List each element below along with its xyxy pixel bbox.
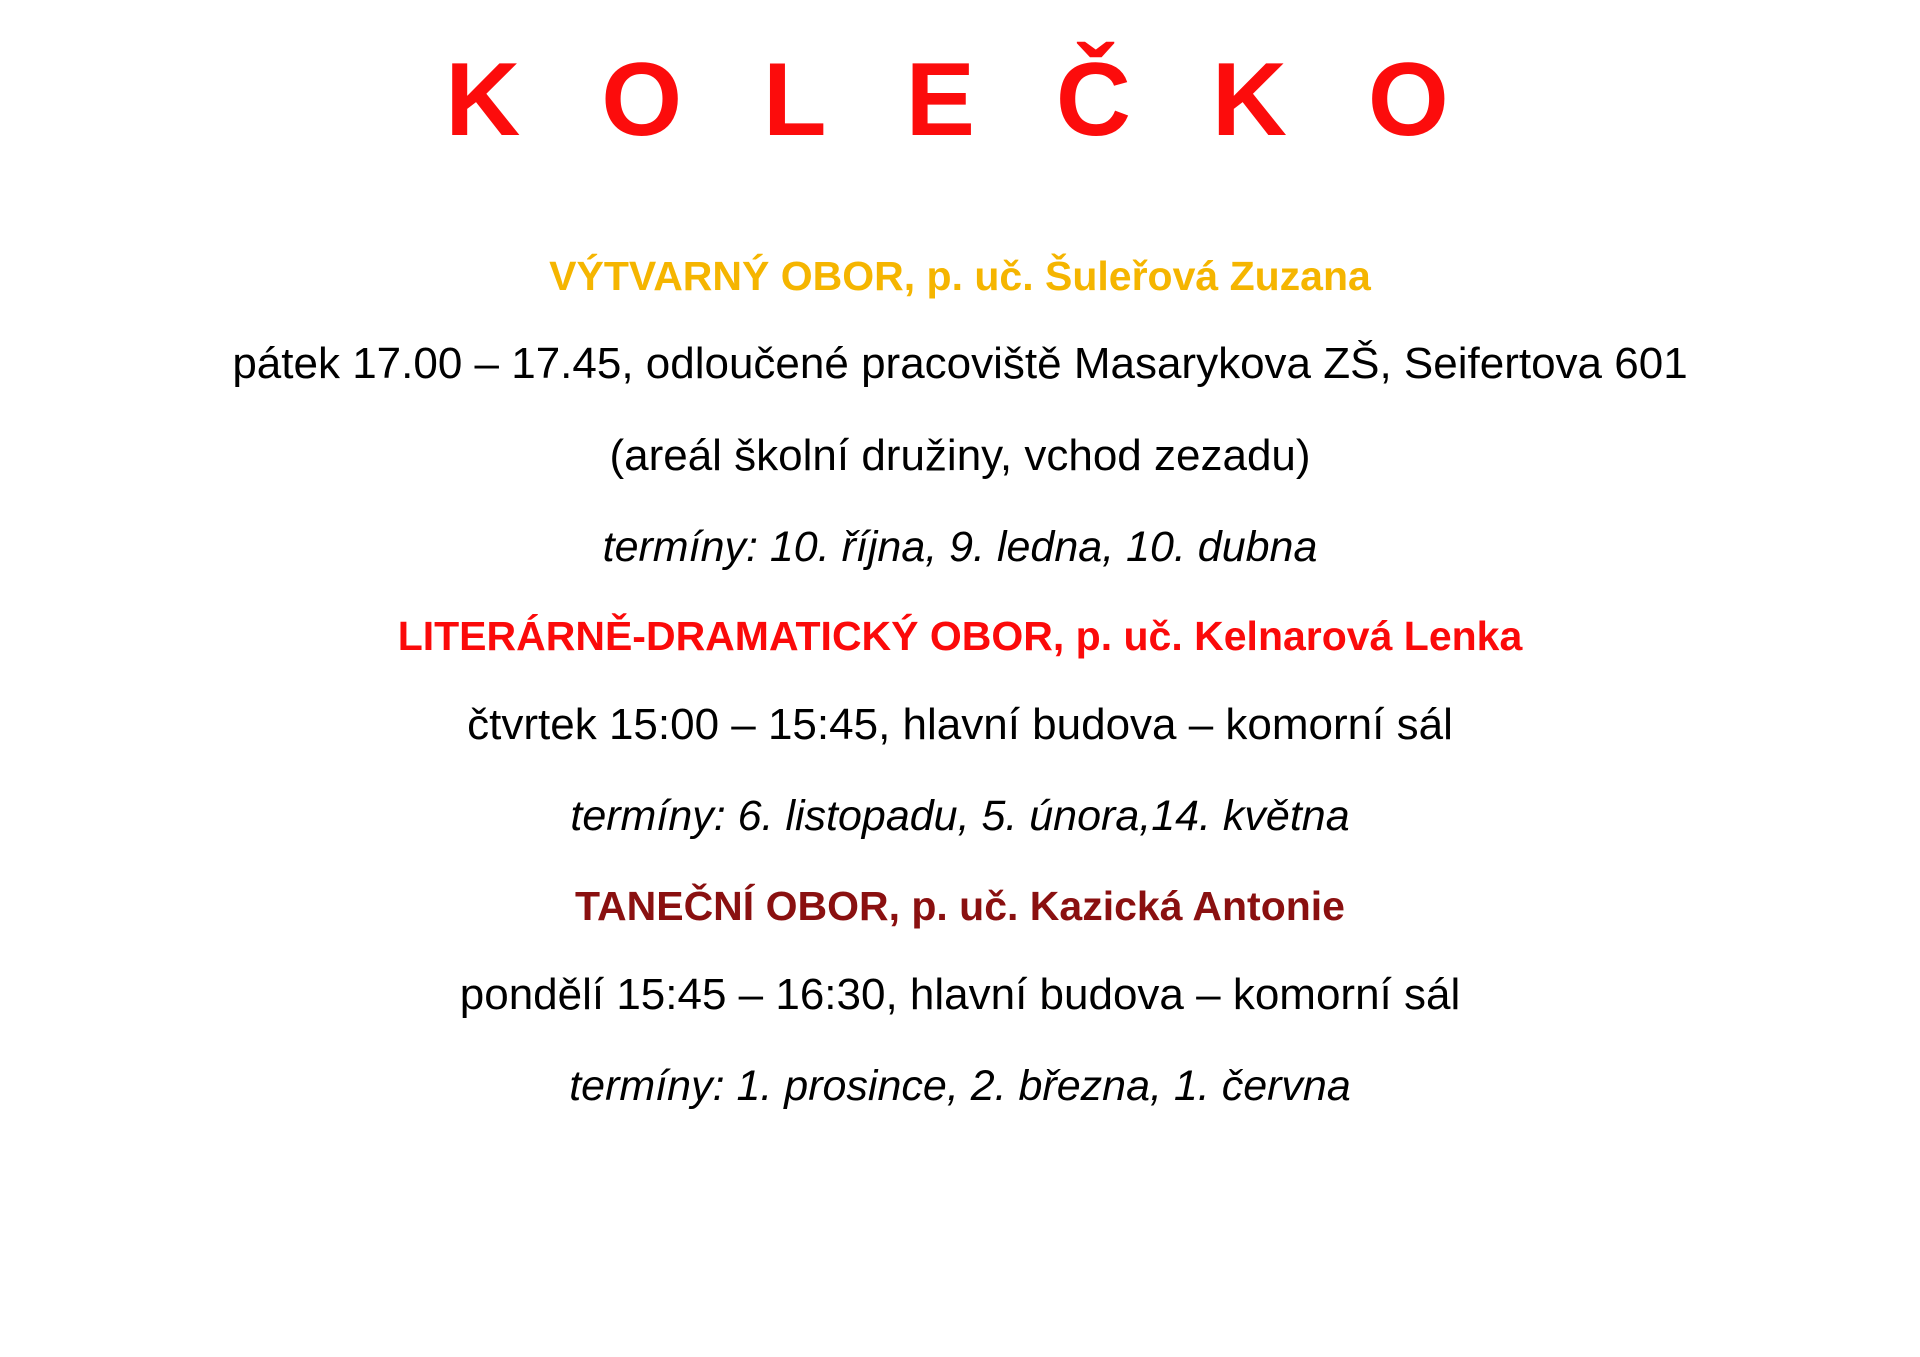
poster-title: K O L E Č K O xyxy=(0,0,1920,152)
section-heading-literarne-dramaticky-obor: LITERÁRNĚ-DRAMATICKÝ OBOR, p. uč. Kelnar… xyxy=(0,616,1920,657)
section-dates-line: termíny: 1. prosince, 2. března, 1. červ… xyxy=(0,1065,1920,1108)
section-heading-tanecni-obor: TANEČNÍ OBOR, p. uč. Kazická Antonie xyxy=(0,886,1920,927)
section-vytvarny-obor: VÝTVARNÝ OBOR, p. uč. Šuleřová Zuzana pá… xyxy=(0,256,1920,569)
section-detail-line: pondělí 15:45 – 16:30, hlavní budova – k… xyxy=(0,973,1920,1017)
section-detail-line: čtvrtek 15:00 – 15:45, hlavní budova – k… xyxy=(0,703,1920,747)
section-heading-vytvarny-obor: VÝTVARNÝ OBOR, p. uč. Šuleřová Zuzana xyxy=(0,256,1920,297)
section-detail-line: (areál školní družiny, vchod zezadu) xyxy=(0,434,1920,478)
section-dates-line: termíny: 10. října, 9. ledna, 10. dubna xyxy=(0,526,1920,569)
poster-page: K O L E Č K O VÝTVARNÝ OBOR, p. uč. Šule… xyxy=(0,0,1920,1357)
section-detail-line: pátek 17.00 – 17.45, odloučené pracovišt… xyxy=(0,342,1920,386)
section-dates-line: termíny: 6. listopadu, 5. února,14. květ… xyxy=(0,795,1920,838)
section-literarne-dramaticky-obor: LITERÁRNĚ-DRAMATICKÝ OBOR, p. uč. Kelnar… xyxy=(0,616,1920,838)
section-tanecni-obor: TANEČNÍ OBOR, p. uč. Kazická Antonie pon… xyxy=(0,886,1920,1108)
